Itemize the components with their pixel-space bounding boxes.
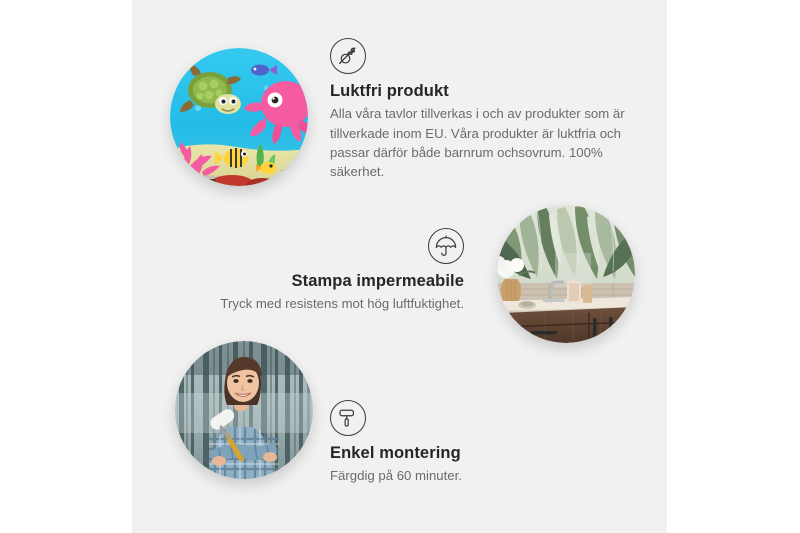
feature-waterproof: Stampa impermeabile Tryck med resistens … <box>196 228 464 314</box>
feature-assembly-icon-wrap <box>330 400 610 436</box>
umbrella-icon <box>428 228 464 264</box>
feature-odourless-icon-wrap <box>330 38 626 74</box>
feature-odourless-title: Luktfri produkt <box>330 82 626 101</box>
feature-assembly-description: Färgdig på 60 minuter. <box>330 466 610 485</box>
bathroom-tropical-wallpaper-photo <box>497 205 635 343</box>
product-feature-infographic: Luktfri produkt Alla våra tavlor tillver… <box>0 0 800 533</box>
paint-roller-icon <box>330 400 366 436</box>
feature-waterproof-description: Tryck med resistens mot hög luftfuktighe… <box>196 294 464 313</box>
feature-assembly-title: Enkel montering <box>330 444 610 463</box>
no-odour-spray-bottle-icon <box>330 38 366 74</box>
feature-odourless: Luktfri produkt Alla våra tavlor tillver… <box>330 38 626 181</box>
woman-with-paint-roller-photo <box>175 341 313 479</box>
feature-assembly: Enkel montering Färgdig på 60 minuter. <box>330 400 610 486</box>
feature-odourless-description: Alla våra tavlor tillverkas i och av pro… <box>330 104 626 181</box>
underwater-cartoon-scene-photo <box>170 48 308 186</box>
feature-waterproof-title: Stampa impermeabile <box>196 272 464 291</box>
feature-waterproof-icon-wrap <box>196 228 464 264</box>
